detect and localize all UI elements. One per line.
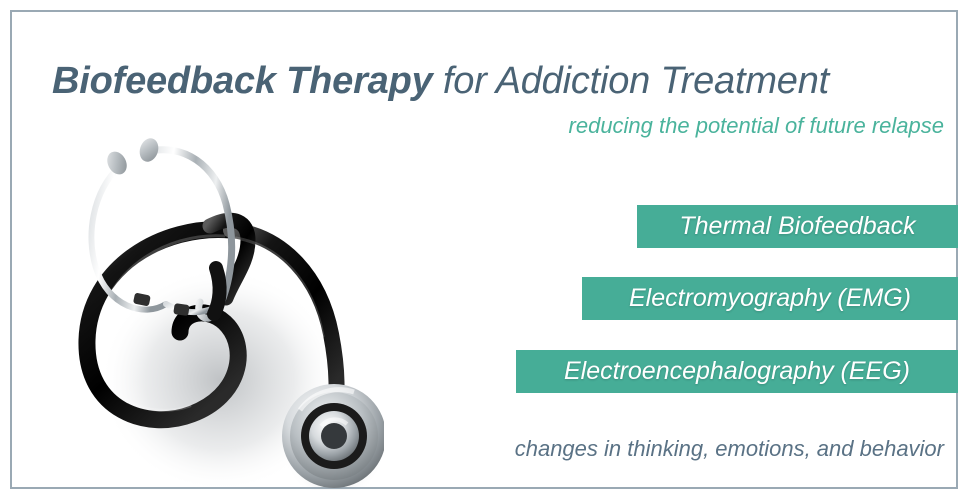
poster-canvas: Biofeedback Therapy for Addiction Treatm… [0, 0, 970, 504]
page-caption: changes in thinking, emotions, and behav… [515, 434, 944, 464]
modality-bar-electromyography: Electromyography (EMG) [582, 277, 958, 320]
page-subtitle: reducing the potential of future relapse [569, 111, 944, 141]
page-title-rest: for Addiction Treatment [433, 60, 829, 102]
modality-bar-electroencephalography: Electroencephalography (EEG) [516, 350, 958, 393]
page-title: Biofeedback Therapy for Addiction Treatm… [52, 58, 942, 104]
modality-bar-label: Thermal Biofeedback [679, 212, 915, 241]
modality-bar-label: Electroencephalography (EEG) [564, 357, 910, 386]
stethoscope-photo [34, 118, 384, 490]
page-title-emphasis: Biofeedback Therapy [52, 60, 433, 102]
modality-bar-thermal-biofeedback: Thermal Biofeedback [637, 205, 958, 248]
modality-bar-label: Electromyography (EMG) [629, 284, 911, 313]
stethoscope-illustration [34, 118, 384, 490]
